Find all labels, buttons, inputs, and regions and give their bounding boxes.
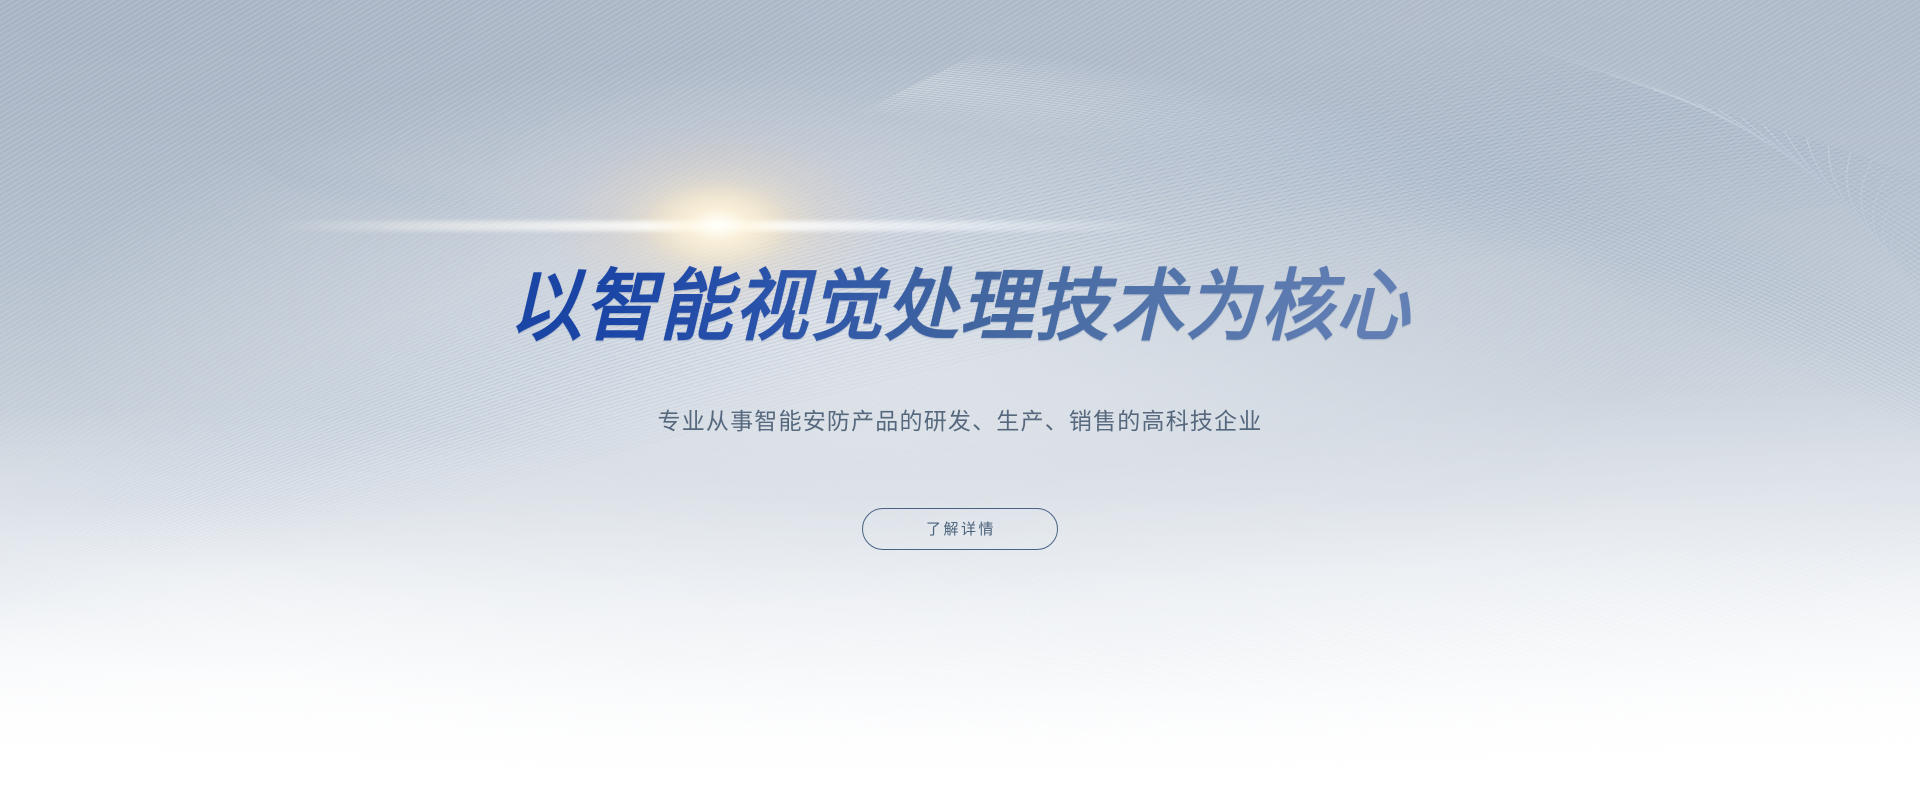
hero-content: 以智能视觉处理技术为核心 专业从事智能安防产品的研发、生产、销售的高科技企业 了… xyxy=(0,0,1920,800)
hero-banner: 以智能视觉处理技术为核心 专业从事智能安防产品的研发、生产、销售的高科技企业 了… xyxy=(0,0,1920,800)
learn-more-button-label: 了解详情 xyxy=(924,522,996,537)
hero-headline: 以智能视觉处理技术为核心 xyxy=(58,258,1863,354)
learn-more-button[interactable]: 了解详情 xyxy=(862,508,1058,550)
hero-subtitle: 专业从事智能安防产品的研发、生产、销售的高科技企业 xyxy=(0,404,1920,438)
